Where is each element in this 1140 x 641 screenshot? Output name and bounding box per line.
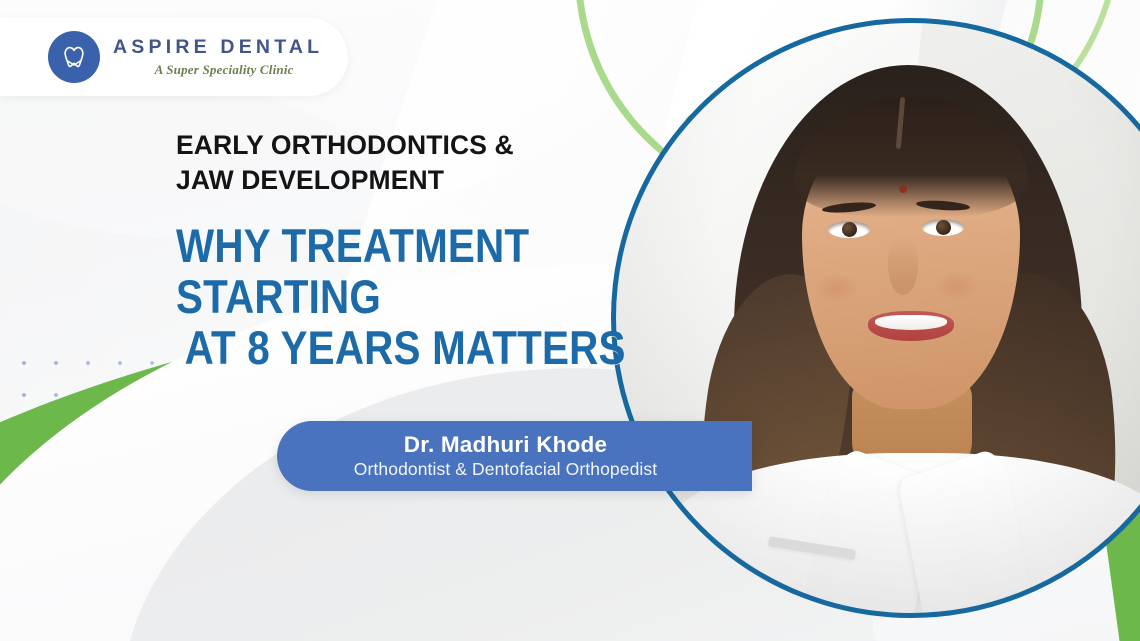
headline-title-line-2: STARTING: [176, 272, 580, 323]
brand-logo[interactable]: ASPIRE DENTAL A Super Speciality Clinic: [0, 18, 348, 96]
presenter-name: Dr. Madhuri Khode: [404, 432, 607, 458]
headline-kicker-line-1: EARLY ORTHODONTICS &: [176, 128, 646, 163]
promo-banner: ASPIRE DENTAL A Super Speciality Clinic …: [0, 0, 1140, 641]
brand-tagline: A Super Speciality Clinic: [113, 63, 323, 76]
presenter-name-banner: Dr. Madhuri Khode Orthodontist & Dentofa…: [277, 421, 752, 491]
headline-block: EARLY ORTHODONTICS & JAW DEVELOPMENT WHY…: [176, 128, 646, 374]
headline-title: WHY TREATMENT STARTING AT 8 YEARS MATTER…: [176, 221, 580, 373]
tooth-heart-icon: [48, 31, 100, 83]
brand-logo-text: ASPIRE DENTAL A Super Speciality Clinic: [113, 38, 323, 77]
headline-title-line-3: AT 8 YEARS MATTERS: [176, 323, 580, 374]
brand-name: ASPIRE DENTAL: [113, 38, 323, 58]
headline-kicker-line-2: JAW DEVELOPMENT: [176, 163, 646, 198]
headline-title-line-1: WHY TREATMENT: [176, 221, 580, 272]
presenter-role: Orthodontist & Dentofacial Orthopedist: [354, 459, 657, 480]
